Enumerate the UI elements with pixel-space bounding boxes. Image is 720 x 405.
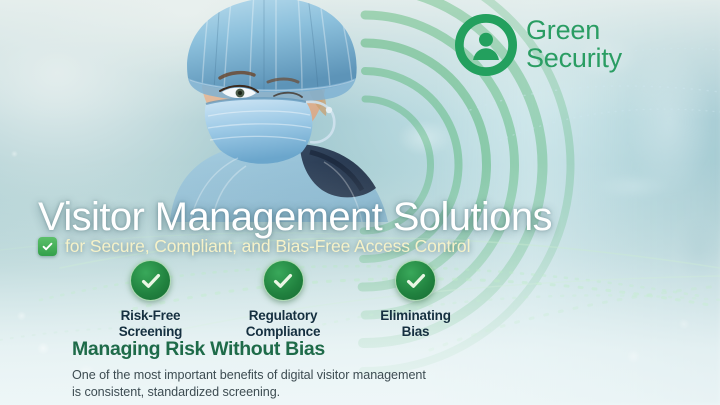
feature-label: Regulatory Compliance <box>246 308 321 340</box>
feature-list: Risk-Free Screening Regulatory Complianc… <box>88 260 478 340</box>
brand-name-line1: Green <box>526 17 622 45</box>
hero-subline-text: for Secure, Compliant, and Bias-Free Acc… <box>65 236 470 257</box>
check-circle-icon <box>263 260 304 301</box>
feature-item-eliminating-bias: Eliminating Bias <box>353 260 478 340</box>
brand-name-line2: Security <box>526 45 622 73</box>
check-circle-icon <box>130 260 171 301</box>
footer-text-block: Managing Risk Without Bias One of the mo… <box>72 338 426 402</box>
hero-subline: for Secure, Compliant, and Bias-Free Acc… <box>38 236 470 257</box>
person-in-circle-icon <box>455 14 517 76</box>
banner-content: Green Security Visitor Management Soluti… <box>0 0 720 405</box>
check-badge-icon <box>38 237 57 256</box>
brand-name: Green Security <box>526 17 622 72</box>
feature-label: Risk-Free Screening <box>119 308 182 340</box>
feature-label: Eliminating Bias <box>380 308 451 340</box>
feature-item-regulatory-compliance: Regulatory Compliance <box>221 260 346 340</box>
promotional-banner: Green Security Visitor Management Soluti… <box>0 0 720 405</box>
footer-title: Managing Risk Without Bias <box>72 338 426 361</box>
check-circle-icon <box>395 260 436 301</box>
hero-headline: Visitor Management Solutions <box>38 195 552 240</box>
footer-body: One of the most important benefits of di… <box>72 367 426 402</box>
brand-logo[interactable]: Green Security <box>455 14 622 76</box>
feature-item-risk-free-screening: Risk-Free Screening <box>88 260 213 340</box>
